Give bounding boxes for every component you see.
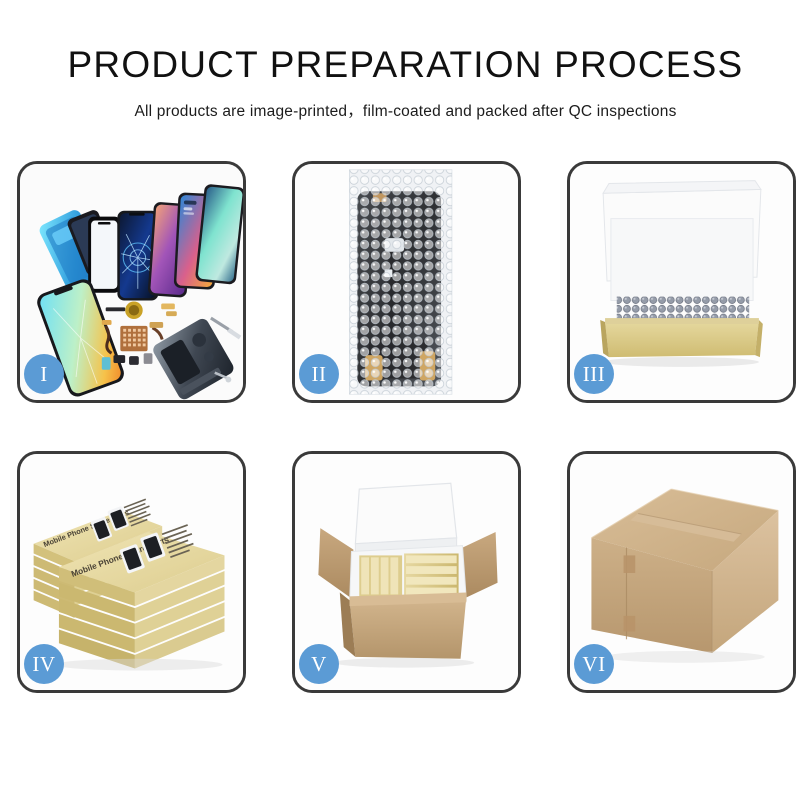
process-step-card-4: Mobile Phone Spare Parts — [17, 451, 246, 693]
page-header: PRODUCT PREPARATION PROCESS All products… — [0, 0, 811, 121]
process-step-card-2: II — [292, 161, 521, 403]
step-badge-1: I — [24, 354, 64, 394]
process-step-card-1: I — [17, 161, 246, 403]
step-badge-4: IV — [24, 644, 64, 684]
step-badge-2: II — [299, 354, 339, 394]
process-step-card-6: VI — [567, 451, 796, 693]
process-step-card-5: V — [292, 451, 521, 693]
process-steps-grid: I — [17, 161, 796, 693]
page-subtitle: All products are image-printed，film-coat… — [0, 99, 811, 121]
step-badge-3: III — [574, 354, 614, 394]
step-badge-5: V — [299, 644, 339, 684]
step-badge-6: VI — [574, 644, 614, 684]
process-step-card-3: III — [567, 161, 796, 403]
product-preparation-process-page: PRODUCT PREPARATION PROCESS All products… — [0, 0, 811, 811]
page-title: PRODUCT PREPARATION PROCESS — [0, 46, 811, 85]
